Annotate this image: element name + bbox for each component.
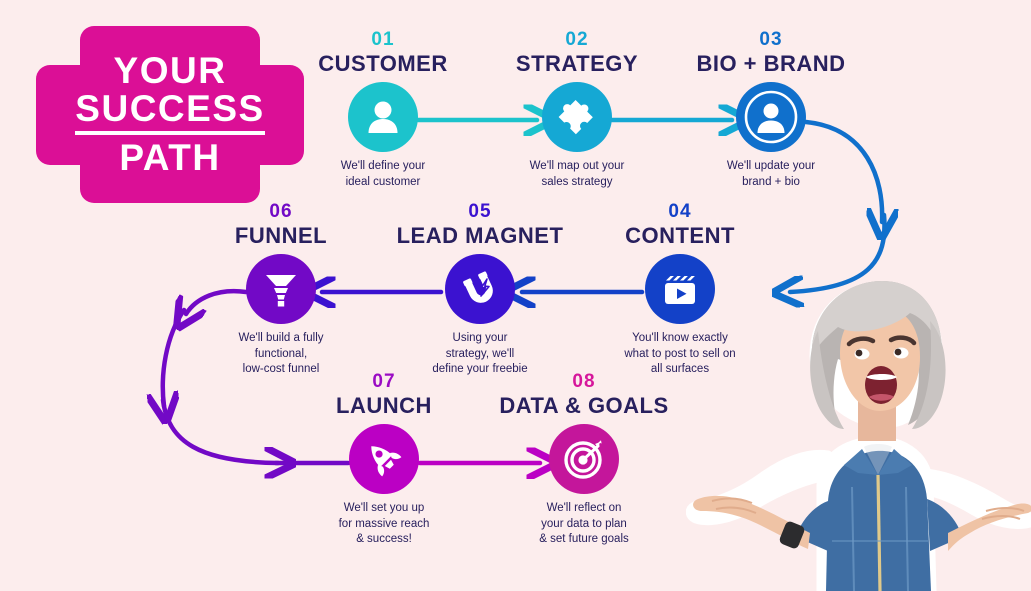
step-number: 01 (288, 30, 478, 49)
step-number: 02 (482, 30, 672, 49)
step-description: We'll map out your sales strategy (482, 159, 672, 190)
step-icon-wrap (186, 254, 376, 324)
step-02-strategy[interactable]: 02 STRATEGY We'll map out your sales str… (482, 30, 672, 190)
step-title: STRATEGY (482, 53, 672, 75)
step-01-customer[interactable]: 01 CUSTOMER We'll define your ideal cust… (288, 30, 478, 190)
target-dart-icon (549, 424, 619, 494)
step-description: We'll update your brand + bio (676, 159, 866, 190)
puzzle-piece-icon (542, 82, 612, 152)
step-title: LAUNCH (289, 395, 479, 417)
step-icon-wrap (288, 82, 478, 152)
step-title: LEAD MAGNET (385, 225, 575, 247)
step-description: We'll define your ideal customer (288, 159, 478, 190)
step-number: 06 (186, 202, 376, 221)
step-title: DATA & GOALS (489, 395, 679, 417)
title-badge: YOUR SUCCESS PATH (36, 26, 304, 203)
title-line-1: YOUR (114, 52, 227, 90)
step-number: 04 (585, 202, 775, 221)
step-description: We'll reflect on your data to plan & set… (489, 501, 679, 548)
step-icon-wrap (385, 254, 575, 324)
funnel-icon (246, 254, 316, 324)
step-title: CUSTOMER (288, 53, 478, 75)
infographic-canvas: YOUR SUCCESS PATH 01 CUSTOMER We'll defi… (0, 0, 1031, 591)
step-title: FUNNEL (186, 225, 376, 247)
step-number: 08 (489, 372, 679, 391)
step-number: 03 (676, 30, 866, 49)
step-number: 05 (385, 202, 575, 221)
step-description: Using your strategy, we'll define your f… (385, 331, 575, 378)
rocket-icon (349, 424, 419, 494)
step-07-launch[interactable]: 07 LAUNCH We'll set you up for massive r… (289, 372, 479, 548)
step-06-funnel[interactable]: 06 FUNNEL We'll build a fully functional… (186, 202, 376, 378)
step-title: CONTENT (585, 225, 775, 247)
woman-with-raised-hands-photo (686, 261, 1031, 591)
person-icon (348, 82, 418, 152)
magnet-icon (445, 254, 515, 324)
title-line-3: PATH (119, 139, 220, 177)
step-icon-wrap (489, 424, 679, 494)
step-description: We'll build a fully functional, low-cost… (186, 331, 376, 378)
step-03-bio-brand[interactable]: 03 BIO + BRAND We'll update your brand +… (676, 30, 866, 190)
title-line-2: SUCCESS (75, 90, 264, 135)
step-icon-wrap (482, 82, 672, 152)
step-number: 07 (289, 372, 479, 391)
step-icon-wrap (289, 424, 479, 494)
step-08-data-goals[interactable]: 08 DATA & GOALS We'll reflect on your da… (489, 372, 679, 548)
step-description: We'll set you up for massive reach & suc… (289, 501, 479, 548)
step-title: BIO + BRAND (676, 53, 866, 75)
step-icon-wrap (676, 82, 866, 152)
profile-ring-icon (736, 82, 806, 152)
step-05-lead-magnet[interactable]: 05 LEAD MAGNET Using your strategy, we'l… (385, 202, 575, 378)
title-text-group: YOUR SUCCESS PATH (36, 26, 304, 203)
